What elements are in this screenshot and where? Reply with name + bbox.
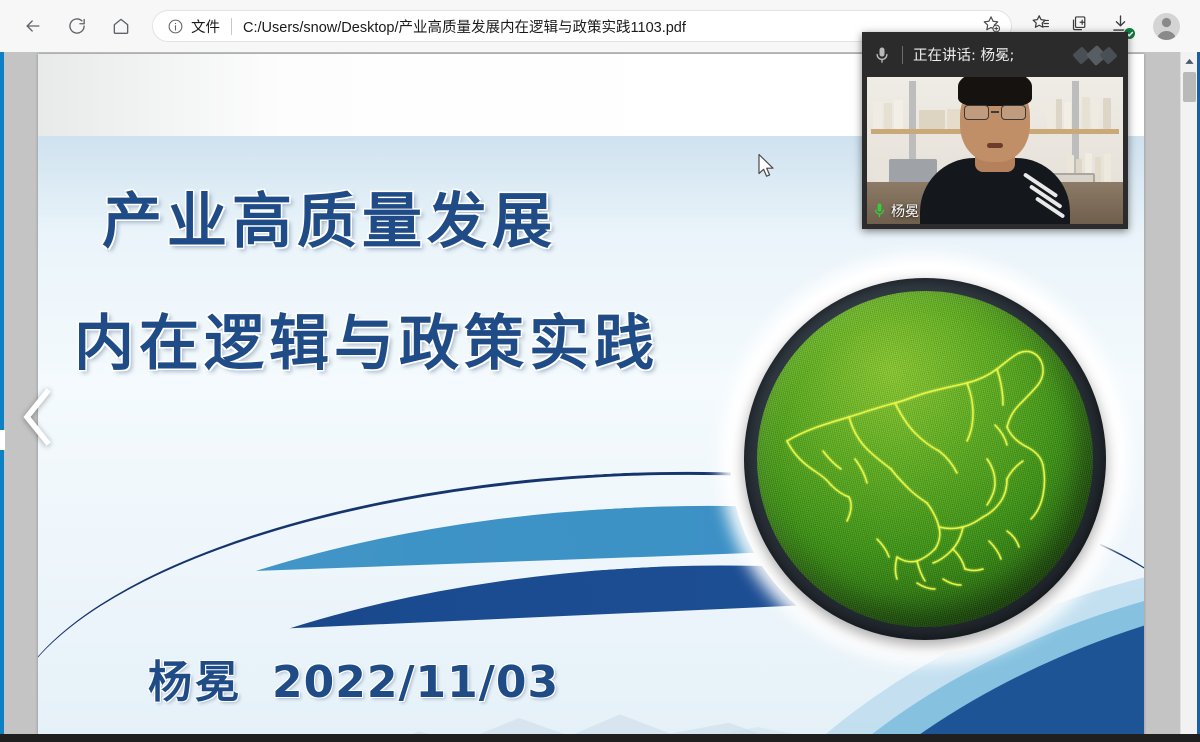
window-bottom-band — [0, 734, 1200, 742]
address-url-text[interactable]: C:/Users/snow/Desktop/产业高质量发展内在逻辑与政策实践11… — [243, 16, 686, 37]
microphone-icon — [872, 45, 892, 65]
window-left-edge — [0, 52, 4, 742]
video-overlay-header: 正在讲话: 杨冕; — [862, 32, 1128, 77]
book — [884, 103, 892, 129]
video-feed[interactable]: 杨冕 — [867, 77, 1123, 224]
speaking-status-label: 正在讲话: 杨冕; — [913, 44, 1014, 65]
scrollbar-thumb[interactable] — [1183, 72, 1196, 102]
vase-decor — [875, 155, 889, 185]
scrollbar-up-button[interactable] — [1181, 52, 1198, 70]
book — [873, 101, 882, 129]
person-mouth — [987, 143, 1003, 148]
slide-title-line-1: 产业高质量发展 — [102, 192, 659, 252]
participant-name: 杨冕 — [891, 201, 919, 221]
participant-name-badge: 杨冕 — [867, 198, 963, 224]
prev-page-button[interactable] — [16, 384, 62, 454]
glasses-lens-right — [1001, 105, 1026, 120]
info-circle-icon[interactable] — [167, 18, 184, 35]
refresh-button[interactable] — [58, 7, 96, 45]
globe-asia-map-outline — [757, 291, 1093, 627]
book — [1092, 101, 1099, 129]
earth-globe-graphic — [730, 264, 1120, 654]
back-button[interactable] — [14, 7, 52, 45]
slide-title: 产业高质量发展 内在逻辑与政策实践 — [102, 192, 659, 374]
book — [1082, 97, 1090, 129]
profile-button[interactable] — [1146, 6, 1186, 46]
slide-author-line: 杨冕 2022/11/03 — [148, 646, 559, 710]
person-hair — [958, 77, 1032, 106]
profile-avatar-icon — [1153, 13, 1180, 40]
home-icon — [111, 16, 131, 36]
box — [919, 110, 945, 129]
person-glasses-icon — [964, 104, 1026, 120]
book — [1064, 102, 1071, 129]
globe-green-sphere — [757, 291, 1093, 627]
microphone-active-icon — [872, 202, 887, 220]
chevron-left-icon — [19, 386, 59, 453]
glasses-lens-left — [964, 105, 989, 120]
book — [1056, 99, 1062, 129]
arrow-left-icon — [23, 16, 43, 36]
meeting-logo-icon — [1072, 44, 1118, 66]
header-separator — [902, 46, 903, 64]
address-separator — [231, 18, 232, 35]
book — [1103, 98, 1111, 129]
caret-up-icon — [1185, 52, 1194, 70]
book — [1047, 103, 1054, 129]
glasses-bridge — [991, 111, 999, 113]
home-button[interactable] — [102, 7, 140, 45]
vertical-scrollbar[interactable] — [1180, 52, 1197, 742]
video-call-overlay[interactable]: 正在讲话: 杨冕; — [862, 32, 1128, 229]
book — [894, 100, 903, 129]
refresh-icon — [67, 16, 87, 36]
left-edge-marker — [0, 430, 5, 450]
book — [1104, 154, 1111, 185]
slide-title-line-2: 内在逻辑与政策实践 — [74, 314, 659, 374]
author-name: 杨冕 — [148, 646, 242, 710]
book — [1095, 157, 1101, 185]
presentation-date: 2022/11/03 — [272, 657, 559, 708]
address-scheme-label: 文件 — [191, 16, 220, 37]
